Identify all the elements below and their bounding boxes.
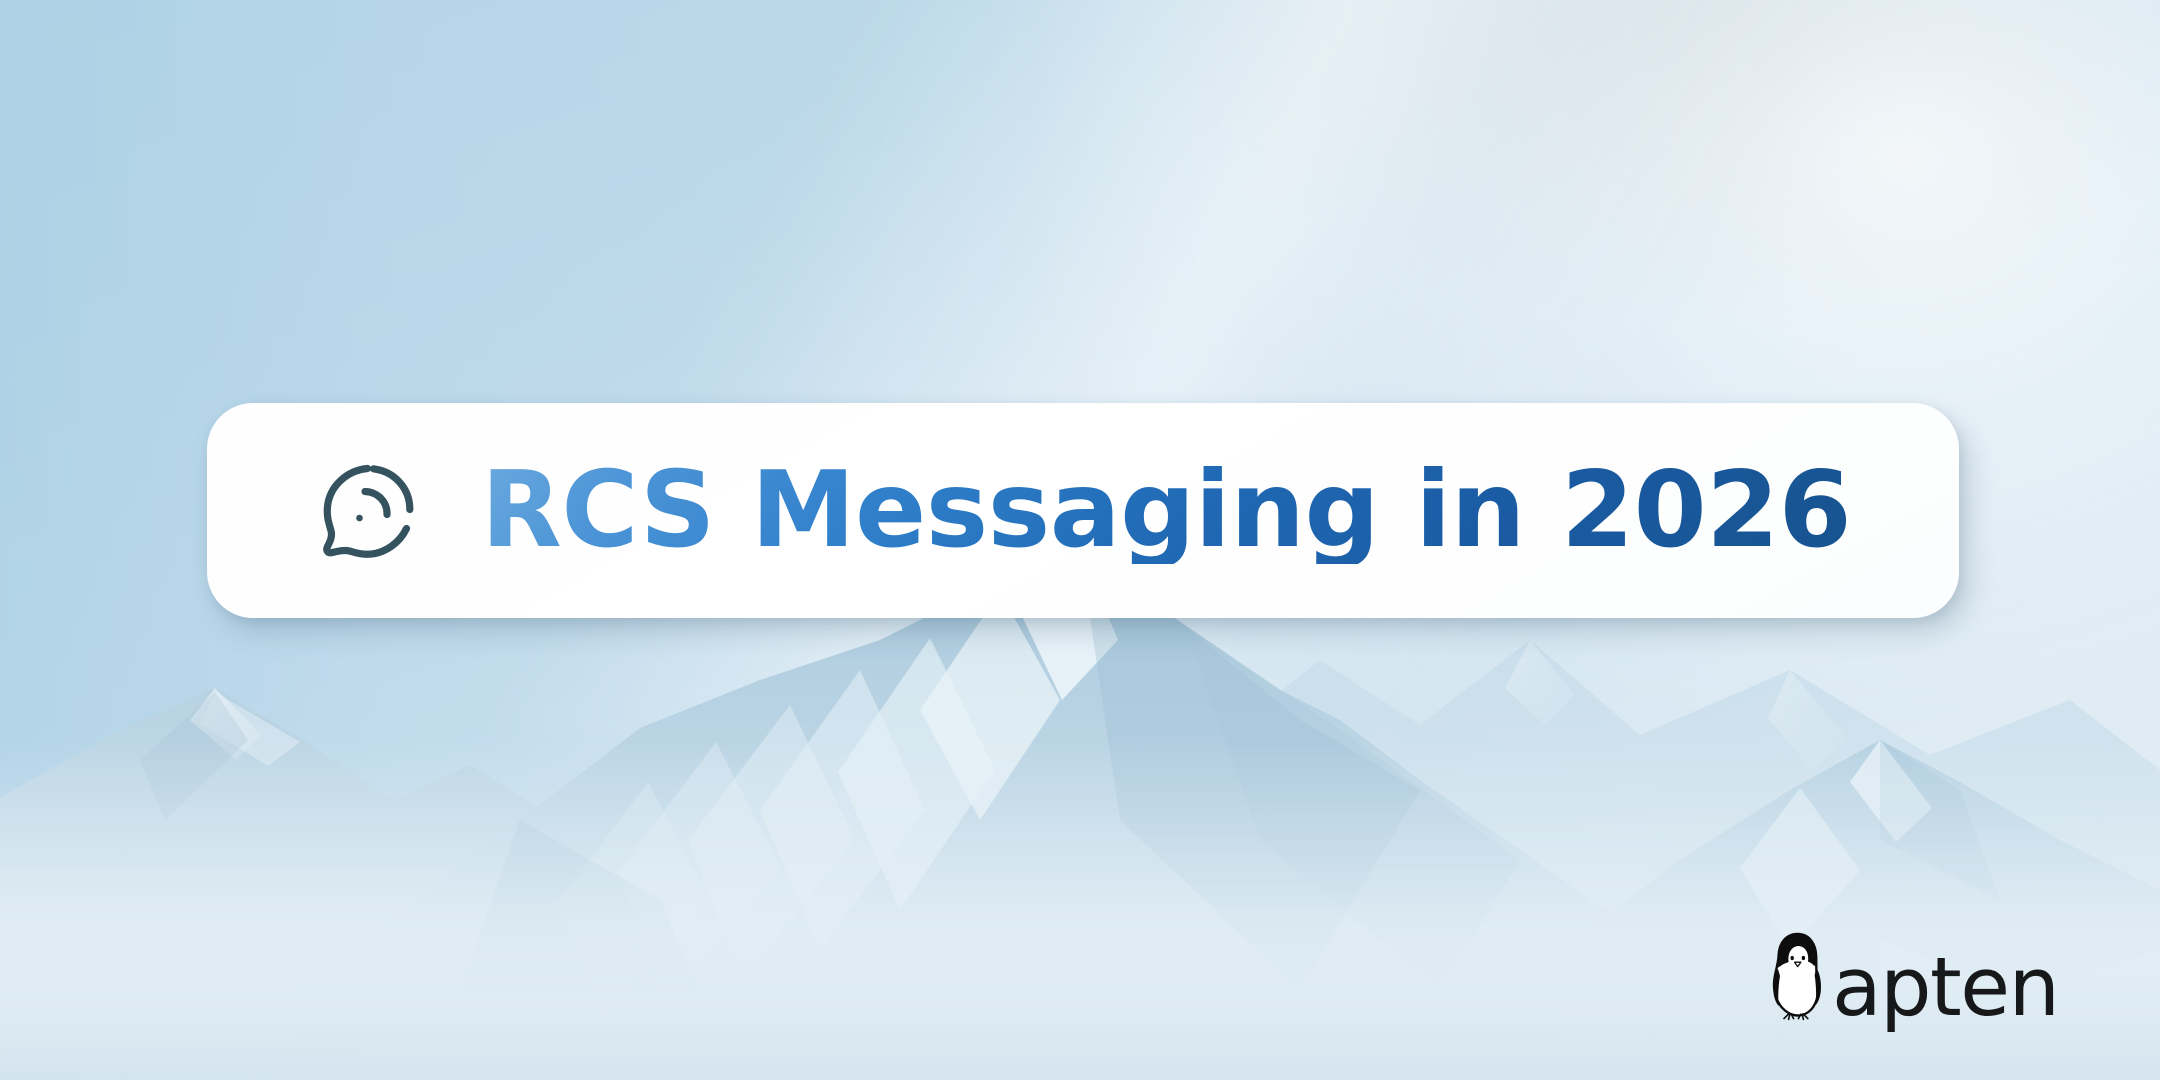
penguin-logo-icon (1770, 928, 1824, 1024)
title-card: RCS Messaging in 2026 (207, 403, 1959, 618)
page-title: RCS Messaging in 2026 (481, 457, 1851, 564)
brand-lockup: apten (1770, 928, 2058, 1024)
poster-canvas: RCS Messaging in 2026 (0, 0, 2160, 1080)
rcs-chat-broadcast-icon (313, 457, 421, 565)
brand-name: apten (1832, 948, 2058, 1029)
